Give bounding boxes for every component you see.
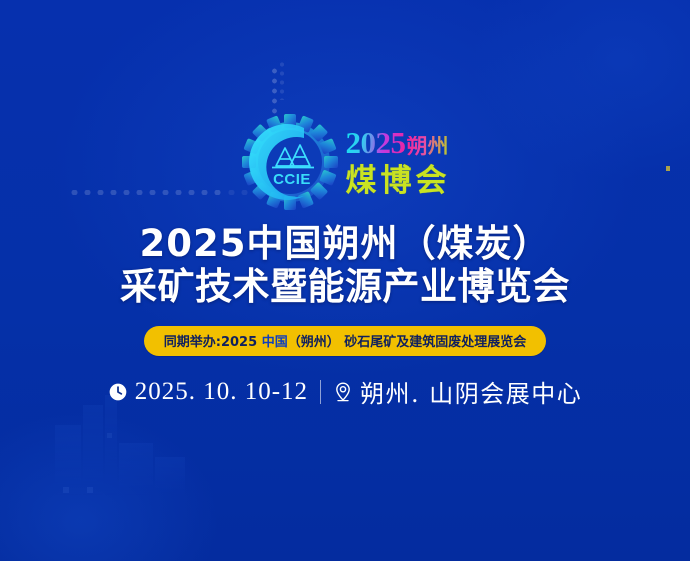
ccie-gear-mountain-logo: CCIE xyxy=(240,112,340,212)
ccie-wordmark: CCIE xyxy=(273,171,311,188)
map-pin-icon xyxy=(333,381,353,403)
title-line-1: 2025中国朔州（煤炭） xyxy=(0,224,690,264)
skyline-window xyxy=(107,433,112,438)
skyline-building xyxy=(55,425,81,495)
subbanner-suffix: （朔州） 砂石尾矿及建筑固废处理展览会 xyxy=(288,335,527,350)
logo-line-year-city: 2025 朔州 xyxy=(346,127,451,161)
skyline-building xyxy=(119,443,153,495)
dotted-line-vertical xyxy=(272,66,277,114)
event-date-text: 2025. 10. 10-12 xyxy=(135,378,308,406)
event-meta: 2025. 10. 10-12 朔州. 山阴会展中心 xyxy=(0,374,690,409)
page-title: 2025中国朔州（煤炭） 采矿技术暨能源产业博览会 xyxy=(0,224,690,307)
city-skyline-silhouette xyxy=(55,395,235,525)
logo-event-short: 煤博会 xyxy=(346,166,451,197)
skyline-window xyxy=(87,487,93,493)
logo-wordmark: 2025 朔州 煤博会 xyxy=(346,127,451,197)
subbanner-wrap: 同期举办:2025 中国（朔州） 砂石尾矿及建筑固废处理展览会 xyxy=(0,326,690,356)
event-date: 2025. 10. 10-12 xyxy=(108,378,308,406)
event-location-text: 朔州. 山阴会展中心 xyxy=(360,374,582,409)
glow-bottom-left xyxy=(0,411,220,561)
logo-city: 朔州 xyxy=(407,136,449,157)
title-line-2: 采矿技术暨能源产业博览会 xyxy=(0,267,690,307)
poster-canvas: CCIE 2025 朔州 煤博会 2025中国朔州（煤炭） 采矿技术暨能源产业博… xyxy=(0,0,690,561)
logo-lockup: CCIE 2025 朔州 煤博会 xyxy=(0,112,690,212)
clock-icon xyxy=(108,382,128,402)
concurrent-event-badge: 同期举办:2025 中国（朔州） 砂石尾矿及建筑固废处理展览会 xyxy=(144,326,546,356)
skyline-building xyxy=(105,395,117,495)
skyline-building xyxy=(83,405,103,495)
subbanner-prefix: 同期举办:2025 xyxy=(164,335,262,350)
logo-year: 2025 xyxy=(346,127,406,158)
subbanner-highlight: 中国 xyxy=(262,335,288,350)
skyline-window xyxy=(63,487,69,493)
event-location: 朔州. 山阴会展中心 xyxy=(333,374,582,409)
meta-divider xyxy=(320,380,321,404)
dotted-line-vertical-secondary xyxy=(280,60,284,100)
skyline-building xyxy=(155,457,185,495)
